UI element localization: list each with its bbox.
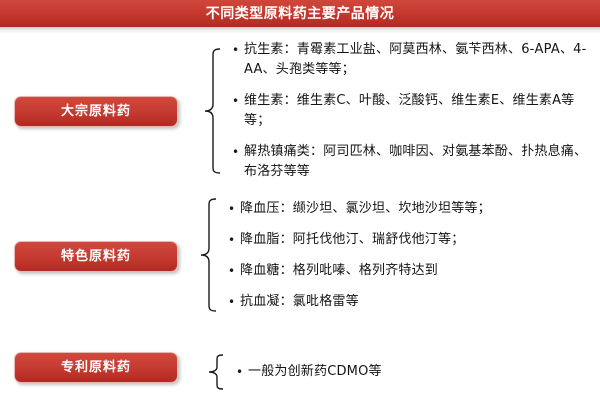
category-content-specialty-api: • 降血压：缬沙坦、氯沙坦、坎地沙坦等等； • 降血脂：阿托伐他汀、瑞舒伐他汀等… <box>198 196 594 314</box>
category-button-patented-api[interactable]: 专利原料药 <box>14 352 178 383</box>
category-content-bulk-api: • 抗生素：青霉素工业盐、阿莫西林、氨苄西林、6-APA、4-AA、头孢类等等；… <box>202 46 594 176</box>
list-item: • 维生素：维生素C、叶酸、泛酸钙、维生素E、维生素A等等； <box>232 91 594 131</box>
list-item-text: 降血脂：阿托伐他汀、瑞舒伐他汀等； <box>240 230 594 250</box>
category-label-patented-api: 专利原料药 <box>61 361 131 374</box>
bullet-icon: • <box>228 230 240 250</box>
category-content-patented-api: • 一般为创新药CDMO等 <box>206 352 594 392</box>
curly-brace-icon <box>198 196 218 314</box>
bullet-list-patented-api: • 一般为创新药CDMO等 <box>226 362 594 382</box>
list-item: • 降血压：缬沙坦、氯沙坦、坎地沙坦等等； <box>228 199 594 219</box>
bullet-icon: • <box>236 362 248 382</box>
curly-brace-icon <box>202 46 222 176</box>
list-item-text: 抗生素：青霉素工业盐、阿莫西林、氨苄西林、6-APA、4-AA、头孢类等等； <box>244 40 594 80</box>
list-item-text: 抗血凝：氯吡格雷等 <box>240 292 594 312</box>
list-item-text: 一般为创新药CDMO等 <box>248 362 594 382</box>
category-label-specialty-api: 特色原料药 <box>61 250 131 263</box>
page-title-bar: 不同类型原料药主要产品情况 <box>0 0 600 27</box>
list-item: • 抗生素：青霉素工业盐、阿莫西林、氨苄西林、6-APA、4-AA、头孢类等等； <box>232 40 594 80</box>
bullet-list-specialty-api: • 降血压：缬沙坦、氯沙坦、坎地沙坦等等； • 降血脂：阿托伐他汀、瑞舒伐他汀等… <box>218 199 594 312</box>
page-title: 不同类型原料药主要产品情况 <box>206 7 395 21</box>
bullet-icon: • <box>228 199 240 219</box>
bullet-icon: • <box>228 292 240 312</box>
category-button-specialty-api[interactable]: 特色原料药 <box>14 241 178 272</box>
list-item: • 一般为创新药CDMO等 <box>236 362 594 382</box>
bullet-icon: • <box>232 142 244 162</box>
bullet-icon: • <box>232 91 244 111</box>
list-item: • 降血糖：格列吡嗪、格列齐特达到 <box>228 261 594 281</box>
list-item: • 降血脂：阿托伐他汀、瑞舒伐他汀等； <box>228 230 594 250</box>
bullet-icon: • <box>232 40 244 60</box>
category-label-bulk-api: 大宗原料药 <box>61 105 131 118</box>
list-item-text: 降血糖：格列吡嗪、格列齐特达到 <box>240 261 594 281</box>
curly-brace-icon <box>206 352 226 392</box>
bullet-list-bulk-api: • 抗生素：青霉素工业盐、阿莫西林、氨苄西林、6-APA、4-AA、头孢类等等；… <box>222 40 594 182</box>
list-item: • 解热镇痛类：阿司匹林、咖啡因、对氨基苯酚、扑热息痛、布洛芬等等 <box>232 142 594 182</box>
list-item: • 抗血凝：氯吡格雷等 <box>228 292 594 312</box>
bullet-icon: • <box>228 261 240 281</box>
list-item-text: 维生素：维生素C、叶酸、泛酸钙、维生素E、维生素A等等； <box>244 91 594 131</box>
list-item-text: 降血压：缬沙坦、氯沙坦、坎地沙坦等等； <box>240 199 594 219</box>
list-item-text: 解热镇痛类：阿司匹林、咖啡因、对氨基苯酚、扑热息痛、布洛芬等等 <box>244 142 594 182</box>
category-button-bulk-api[interactable]: 大宗原料药 <box>14 96 178 127</box>
title-bar-shadow <box>0 27 600 34</box>
